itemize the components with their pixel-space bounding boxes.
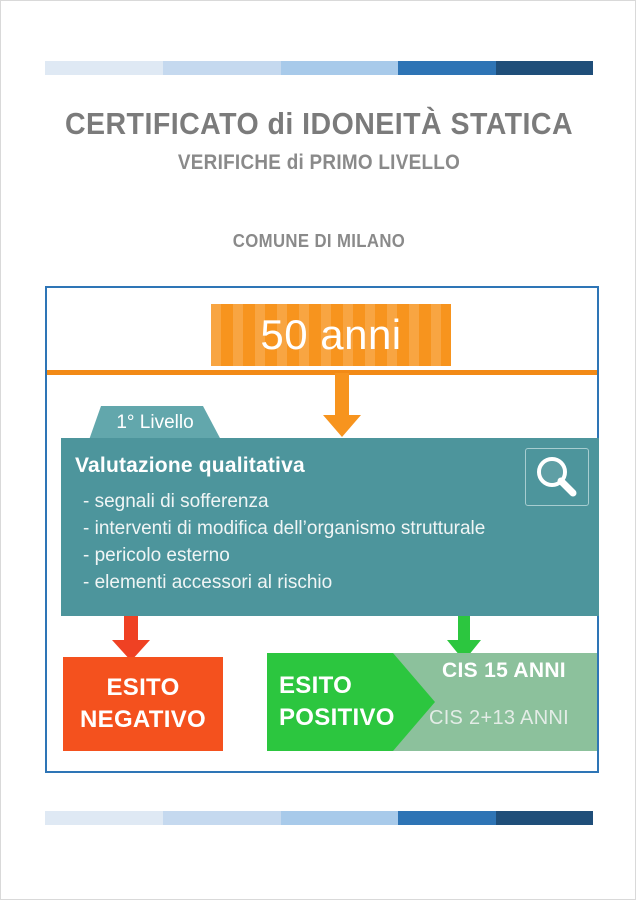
colorbar-segment-3 — [281, 811, 399, 825]
assessment-item-list: - segnali di sofferenza - interventi di … — [83, 488, 485, 596]
colorbar-segment-1 — [45, 61, 163, 75]
level-tab: 1° Livello — [89, 406, 221, 440]
arrow-down-red-icon — [111, 616, 151, 661]
arrow-down-orange-icon — [322, 373, 362, 437]
outcome-positive-line2: POSITIVO — [279, 702, 435, 734]
colorbar-segment-1 — [45, 811, 163, 825]
page-title: CERTIFICATO di IDONEITÀ STATICA — [26, 106, 611, 142]
outcome-positive-line1: ESITO — [279, 670, 435, 702]
page-subtitle: VERIFICHE di PRIMO LIVELLO — [33, 151, 605, 175]
arrow-head — [323, 415, 361, 437]
arrow-shaft — [335, 373, 349, 415]
outcome-negative-line2: NEGATIVO — [63, 704, 223, 736]
qualitative-assessment-panel: Valutazione qualitativa - segnali di sof… — [61, 438, 599, 616]
colorbar-segment-3 — [281, 61, 399, 75]
assessment-item-1: - segnali di sofferenza — [83, 488, 485, 515]
years-threshold-box: 50 anni — [211, 304, 451, 366]
colorbar-segment-2 — [163, 811, 281, 825]
colorbar-segment-5 — [496, 811, 593, 825]
arrow-shaft — [124, 616, 138, 640]
decorative-colorbar-bottom — [45, 811, 593, 825]
colorbar-segment-2 — [163, 61, 281, 75]
colorbar-segment-5 — [496, 61, 593, 75]
outcome-positive-group: CIS 15 ANNI CIS 2+13 ANNI ESITO POSITIVO — [267, 653, 597, 751]
assessment-item-2: - interventi di modifica dell’organismo … — [83, 515, 485, 542]
assessment-item-3: - pericolo esterno — [83, 542, 485, 569]
decorative-colorbar-top — [45, 61, 593, 75]
municipality-label: COMUNE DI MILANO — [23, 231, 614, 252]
colorbar-segment-4 — [398, 811, 496, 825]
cis-primary-label: CIS 15 ANNI — [387, 659, 597, 683]
assessment-item-4: - elementi accessori al rischio — [83, 569, 485, 596]
magnifying-glass-icon — [525, 448, 589, 506]
years-threshold-label: 50 anni — [211, 304, 451, 366]
outcome-negative-box: ESITO NEGATIVO — [63, 657, 223, 751]
colorbar-segment-4 — [398, 61, 496, 75]
page-canvas: CERTIFICATO di IDONEITÀ STATICA VERIFICH… — [0, 0, 636, 900]
arrow-shaft — [458, 616, 470, 640]
outcome-negative-line1: ESITO — [63, 672, 223, 704]
assessment-heading: Valutazione qualitativa — [75, 454, 305, 478]
